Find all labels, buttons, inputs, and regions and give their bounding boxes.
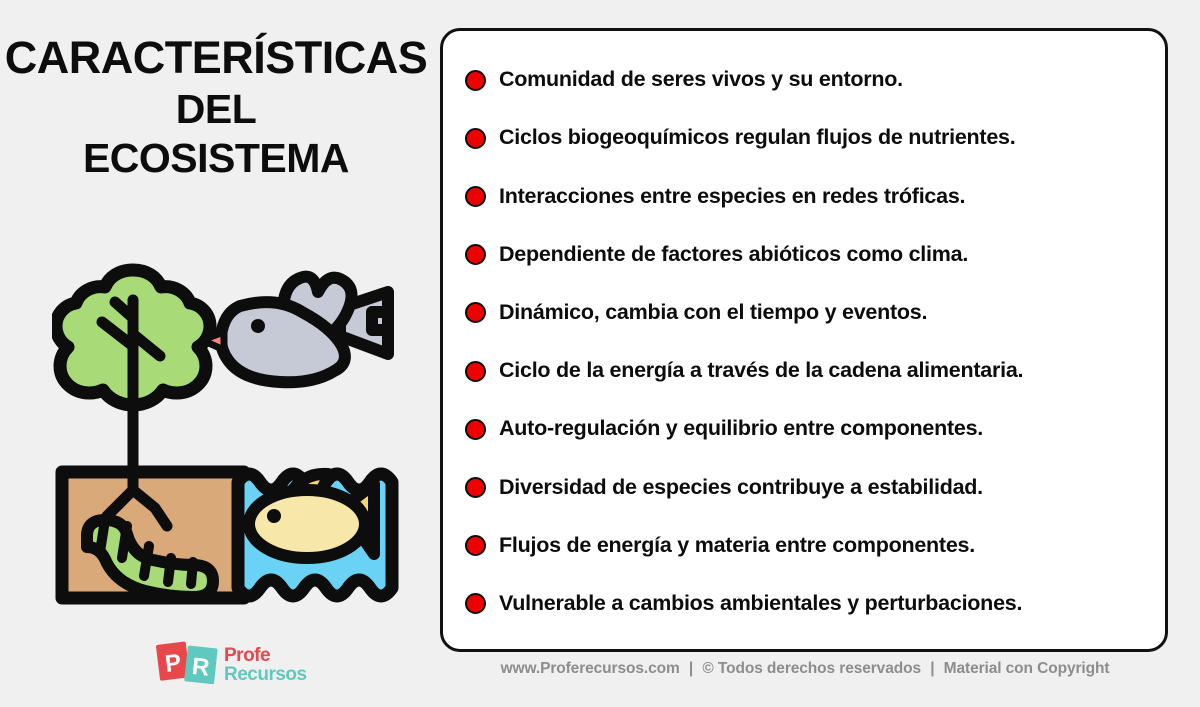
feature-text: Ciclo de la energía a través de la caden… (499, 359, 1023, 383)
title-line-2: DEL (0, 88, 432, 131)
logo-word-profe: Profe (224, 645, 270, 666)
page-title: CARACTERÍSTICAS DEL ECOSISTEMA (0, 34, 432, 181)
list-item: Diversidad de especies contribuye a esta… (465, 461, 1139, 515)
feature-text: Interacciones entre especies en redes tr… (499, 185, 965, 209)
bullet-icon (465, 244, 486, 265)
feature-text: Comunidad de seres vivos y su entorno. (499, 68, 903, 92)
svg-text:R: R (191, 653, 211, 682)
bullet-icon (465, 535, 486, 556)
list-item: Vulnerable a cambios ambientales y pertu… (465, 577, 1139, 631)
footer-rights: © Todos derechos reservados (702, 660, 921, 677)
bullet-icon (465, 477, 486, 498)
bullet-icon (465, 128, 486, 149)
svg-text:P: P (164, 649, 183, 678)
footer-site[interactable]: www.Proferecursos.com (501, 660, 680, 677)
left-column: CARACTERÍSTICAS DEL ECOSISTEMA (0, 0, 432, 707)
list-item: Auto-regulación y equilibrio entre compo… (465, 402, 1139, 456)
ecosystem-illustration (52, 258, 412, 606)
title-line-3: ECOSISTEMA (0, 137, 432, 180)
bullet-icon (465, 186, 486, 207)
bullet-icon (465, 70, 486, 91)
footer: www.Proferecursos.com | © Todos derechos… (440, 660, 1170, 678)
bullet-icon (465, 419, 486, 440)
feature-text: Dependiente de factores abióticos como c… (499, 243, 968, 267)
list-item: Dinámico, cambia con el tiempo y eventos… (465, 286, 1139, 340)
logo-word-recursos: Recursos (224, 664, 307, 685)
list-item: Ciclos biogeoquímicos regulan flujos de … (465, 111, 1139, 165)
bullet-icon (465, 361, 486, 382)
feature-text: Diversidad de especies contribuye a esta… (499, 476, 983, 500)
list-item: Comunidad de seres vivos y su entorno. (465, 53, 1139, 107)
feature-text: Dinámico, cambia con el tiempo y eventos… (499, 301, 927, 325)
feature-text: Ciclos biogeoquímicos regulan flujos de … (499, 126, 1015, 150)
list-item: Ciclo de la energía a través de la caden… (465, 344, 1139, 398)
infographic-page: CARACTERÍSTICAS DEL ECOSISTEMA (0, 0, 1200, 707)
list-item: Interacciones entre especies en redes tr… (465, 169, 1139, 223)
title-line-1: CARACTERÍSTICAS (0, 34, 432, 82)
bird (202, 277, 388, 383)
feature-text: Auto-regulación y equilibrio entre compo… (499, 417, 983, 441)
bullet-icon (465, 302, 486, 323)
feature-text: Vulnerable a cambios ambientales y pertu… (499, 592, 1022, 616)
feature-text: Flujos de energía y materia entre compon… (499, 534, 975, 558)
list-item: Flujos de energía y materia entre compon… (465, 519, 1139, 573)
list-item: Dependiente de factores abióticos como c… (465, 228, 1139, 282)
logo-tile-r: R (184, 645, 218, 684)
profe-recursos-logo[interactable]: P R Profe Recursos (152, 638, 332, 686)
features-panel: Comunidad de seres vivos y su entorno. C… (440, 28, 1168, 652)
bullet-icon (465, 593, 486, 614)
footer-copyright: Material con Copyright (944, 660, 1110, 677)
footer-separator-1: | (689, 660, 693, 677)
footer-separator-2: | (930, 660, 934, 677)
